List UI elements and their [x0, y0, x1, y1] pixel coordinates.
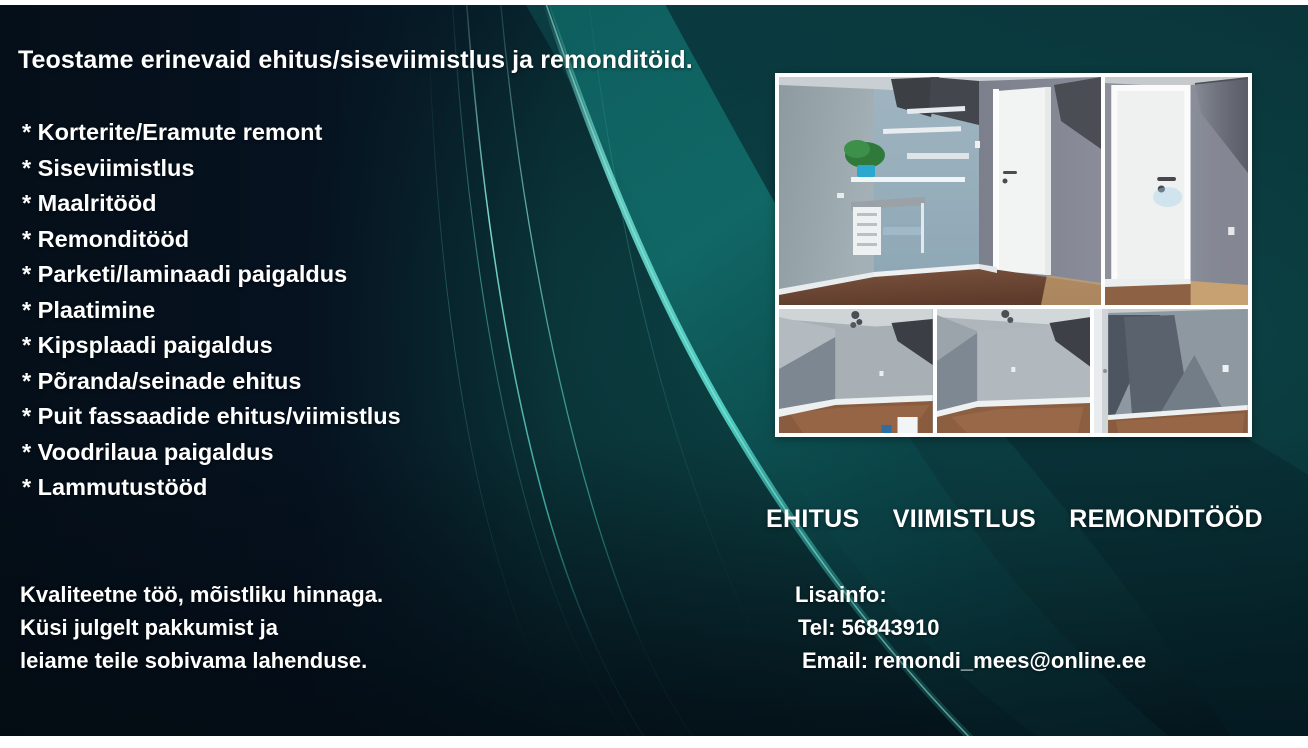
list-item: * Kipsplaadi paigaldus — [22, 328, 401, 364]
photo-painted-room-grey-wall-right — [1094, 309, 1248, 433]
collage-top-row — [779, 77, 1248, 305]
list-item: * Parketi/laminaadi paigaldus — [22, 257, 401, 293]
contact-email[interactable]: Email: remondi_mees@online.ee — [795, 644, 1146, 677]
contact-phone[interactable]: Tel: 56843910 — [795, 611, 1146, 644]
contact-label: Lisainfo: — [795, 578, 1146, 611]
photo-painted-room-grey-wall-center — [937, 309, 1091, 433]
tagline-line-2: Küsi julgelt pakkumist ja — [20, 611, 383, 644]
list-item: * Plaatimine — [22, 293, 401, 329]
list-item: * Lammutustööd — [22, 470, 401, 506]
list-item: * Põranda/seinade ehitus — [22, 364, 401, 400]
photo-collage — [775, 73, 1252, 437]
photo-white-interior-door — [1105, 77, 1248, 305]
services-list: * Korterite/Eramute remont * Siseviimist… — [22, 115, 401, 506]
keyword-viimistlus: VIIMISTLUS — [893, 505, 1036, 533]
keyword-ehitus: EHITUS — [766, 505, 859, 533]
keyword-remonditood: REMONDITÖÖD — [1069, 505, 1263, 533]
photo-painted-room-grey-wall-left — [779, 309, 933, 433]
photo-room-with-desk-and-shelves — [779, 77, 1101, 305]
list-item: * Maalritööd — [22, 186, 401, 222]
poster-canvas: Teostame erinevaid ehitus/siseviimistlus… — [0, 0, 1308, 748]
list-item: * Remonditööd — [22, 222, 401, 258]
list-item: * Voodrilaua paigaldus — [22, 435, 401, 471]
collage-bottom-row — [779, 309, 1248, 433]
page-bottom-margin — [0, 736, 1308, 748]
list-item: * Puit fassaadide ehitus/viimistlus — [22, 399, 401, 435]
tagline-line-3: leiame teile sobivama lahenduse. — [20, 644, 383, 677]
tagline-line-1: Kvaliteetne töö, mõistliku hinnaga. — [20, 578, 383, 611]
contact-block: Lisainfo: Tel: 56843910 Email: remondi_m… — [795, 578, 1146, 677]
headline: Teostame erinevaid ehitus/siseviimistlus… — [18, 46, 693, 75]
tagline-block: Kvaliteetne töö, mõistliku hinnaga. Küsi… — [20, 578, 383, 677]
keywords-row: EHITUS VIIMISTLUS REMONDITÖÖD — [766, 505, 1263, 534]
list-item: * Korterite/Eramute remont — [22, 115, 401, 151]
list-item: * Siseviimistlus — [22, 151, 401, 187]
